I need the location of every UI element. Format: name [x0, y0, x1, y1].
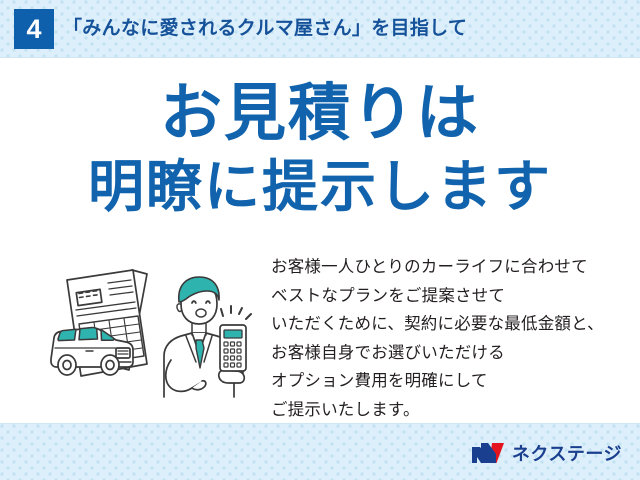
nextage-n-logo-icon	[471, 442, 505, 464]
footer-band: ネクステージ	[0, 423, 640, 480]
lead-line: お客様一人ひとりのカーライフに合わせて	[271, 253, 631, 282]
main-content: お見積りは 明瞭に提示します お客様一人ひとりのカーライフに合わせて ベストなプ…	[0, 58, 640, 423]
page-headline: お見積りは 明瞭に提示します	[0, 76, 640, 222]
illustration-salesman-estimate-van	[34, 252, 274, 407]
section-number-badge: 4	[14, 9, 54, 49]
brand-logo: ネクステージ	[471, 424, 622, 480]
lead-line: ご提示いたします。	[271, 396, 631, 425]
header-band: 4 「みんなに愛されるクルマ屋さん」を目指して	[0, 0, 640, 58]
lead-line: お客様自身でお選びいただける	[271, 339, 631, 368]
calculator-icon	[220, 325, 246, 371]
header-title: 「みんなに愛されるクルマ屋さん」を目指して	[63, 0, 467, 58]
lead-line: ベストなプランをご提案させて	[271, 282, 631, 311]
sparkle-icon	[221, 306, 251, 319]
brand-name: ネクステージ	[512, 440, 622, 466]
promo-banner: 4 「みんなに愛されるクルマ屋さん」を目指して お見積りは 明瞭に提示します お…	[0, 0, 640, 480]
lead-paragraph: お客様一人ひとりのカーライフに合わせて ベストなプランをご提案させて いただくた…	[271, 253, 631, 424]
lead-line: いただくために、契約に必要な最低金額と、	[271, 310, 631, 339]
lead-line: オプション費用を明確にして	[271, 367, 631, 396]
headline-line-1: お見積りは	[0, 76, 640, 152]
headline-line-2: 明瞭に提示します	[0, 152, 640, 222]
